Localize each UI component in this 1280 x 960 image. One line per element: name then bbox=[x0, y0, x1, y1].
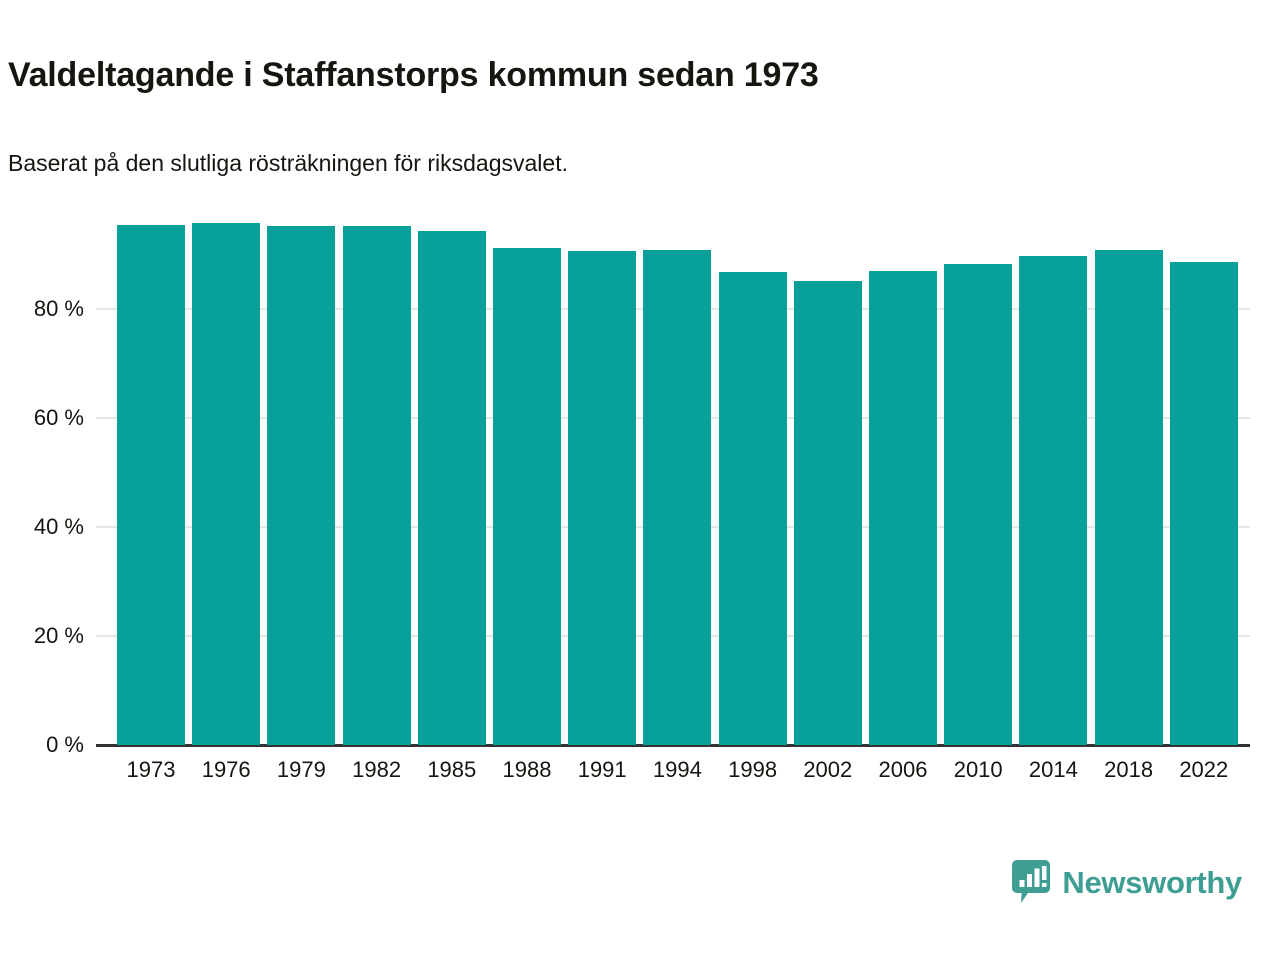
newsworthy-bar-chart-bubble-icon bbox=[1012, 860, 1050, 904]
bar-2006[interactable] bbox=[869, 271, 937, 745]
bar-1988[interactable] bbox=[493, 248, 561, 745]
bar-2014[interactable] bbox=[1019, 256, 1087, 745]
bar-1991[interactable] bbox=[568, 251, 636, 745]
bar-1985[interactable] bbox=[418, 231, 486, 745]
y-axis-tick-label: 60 % bbox=[0, 405, 84, 431]
bar-1976[interactable] bbox=[192, 223, 260, 745]
chart-page: Valdeltagande i Staffanstorps kommun sed… bbox=[0, 0, 1280, 960]
y-axis-tick-label: 20 % bbox=[0, 623, 84, 649]
bar-1973[interactable] bbox=[117, 225, 185, 745]
bar-1979[interactable] bbox=[267, 226, 335, 745]
brand-wordmark: Newsworthy bbox=[1062, 867, 1242, 898]
bar-2002[interactable] bbox=[794, 281, 862, 745]
x-axis-tick-label: 2022 bbox=[1159, 757, 1249, 783]
y-axis-tick-label: 80 % bbox=[0, 296, 84, 322]
bar-2022[interactable] bbox=[1170, 262, 1238, 745]
bar-1998[interactable] bbox=[719, 272, 787, 745]
bars-container bbox=[117, 200, 1240, 745]
y-axis-tick-label: 0 % bbox=[0, 732, 84, 758]
bar-2018[interactable] bbox=[1095, 250, 1163, 745]
bar-2010[interactable] bbox=[944, 264, 1012, 745]
bar-1982[interactable] bbox=[343, 226, 411, 745]
chart-plot: 0 %20 %40 %60 %80 % 19731976197919821985… bbox=[0, 0, 1280, 800]
y-axis-tick-label: 40 % bbox=[0, 514, 84, 540]
bar-1994[interactable] bbox=[643, 250, 711, 745]
newsworthy-logo: Newsworthy bbox=[1012, 860, 1242, 904]
